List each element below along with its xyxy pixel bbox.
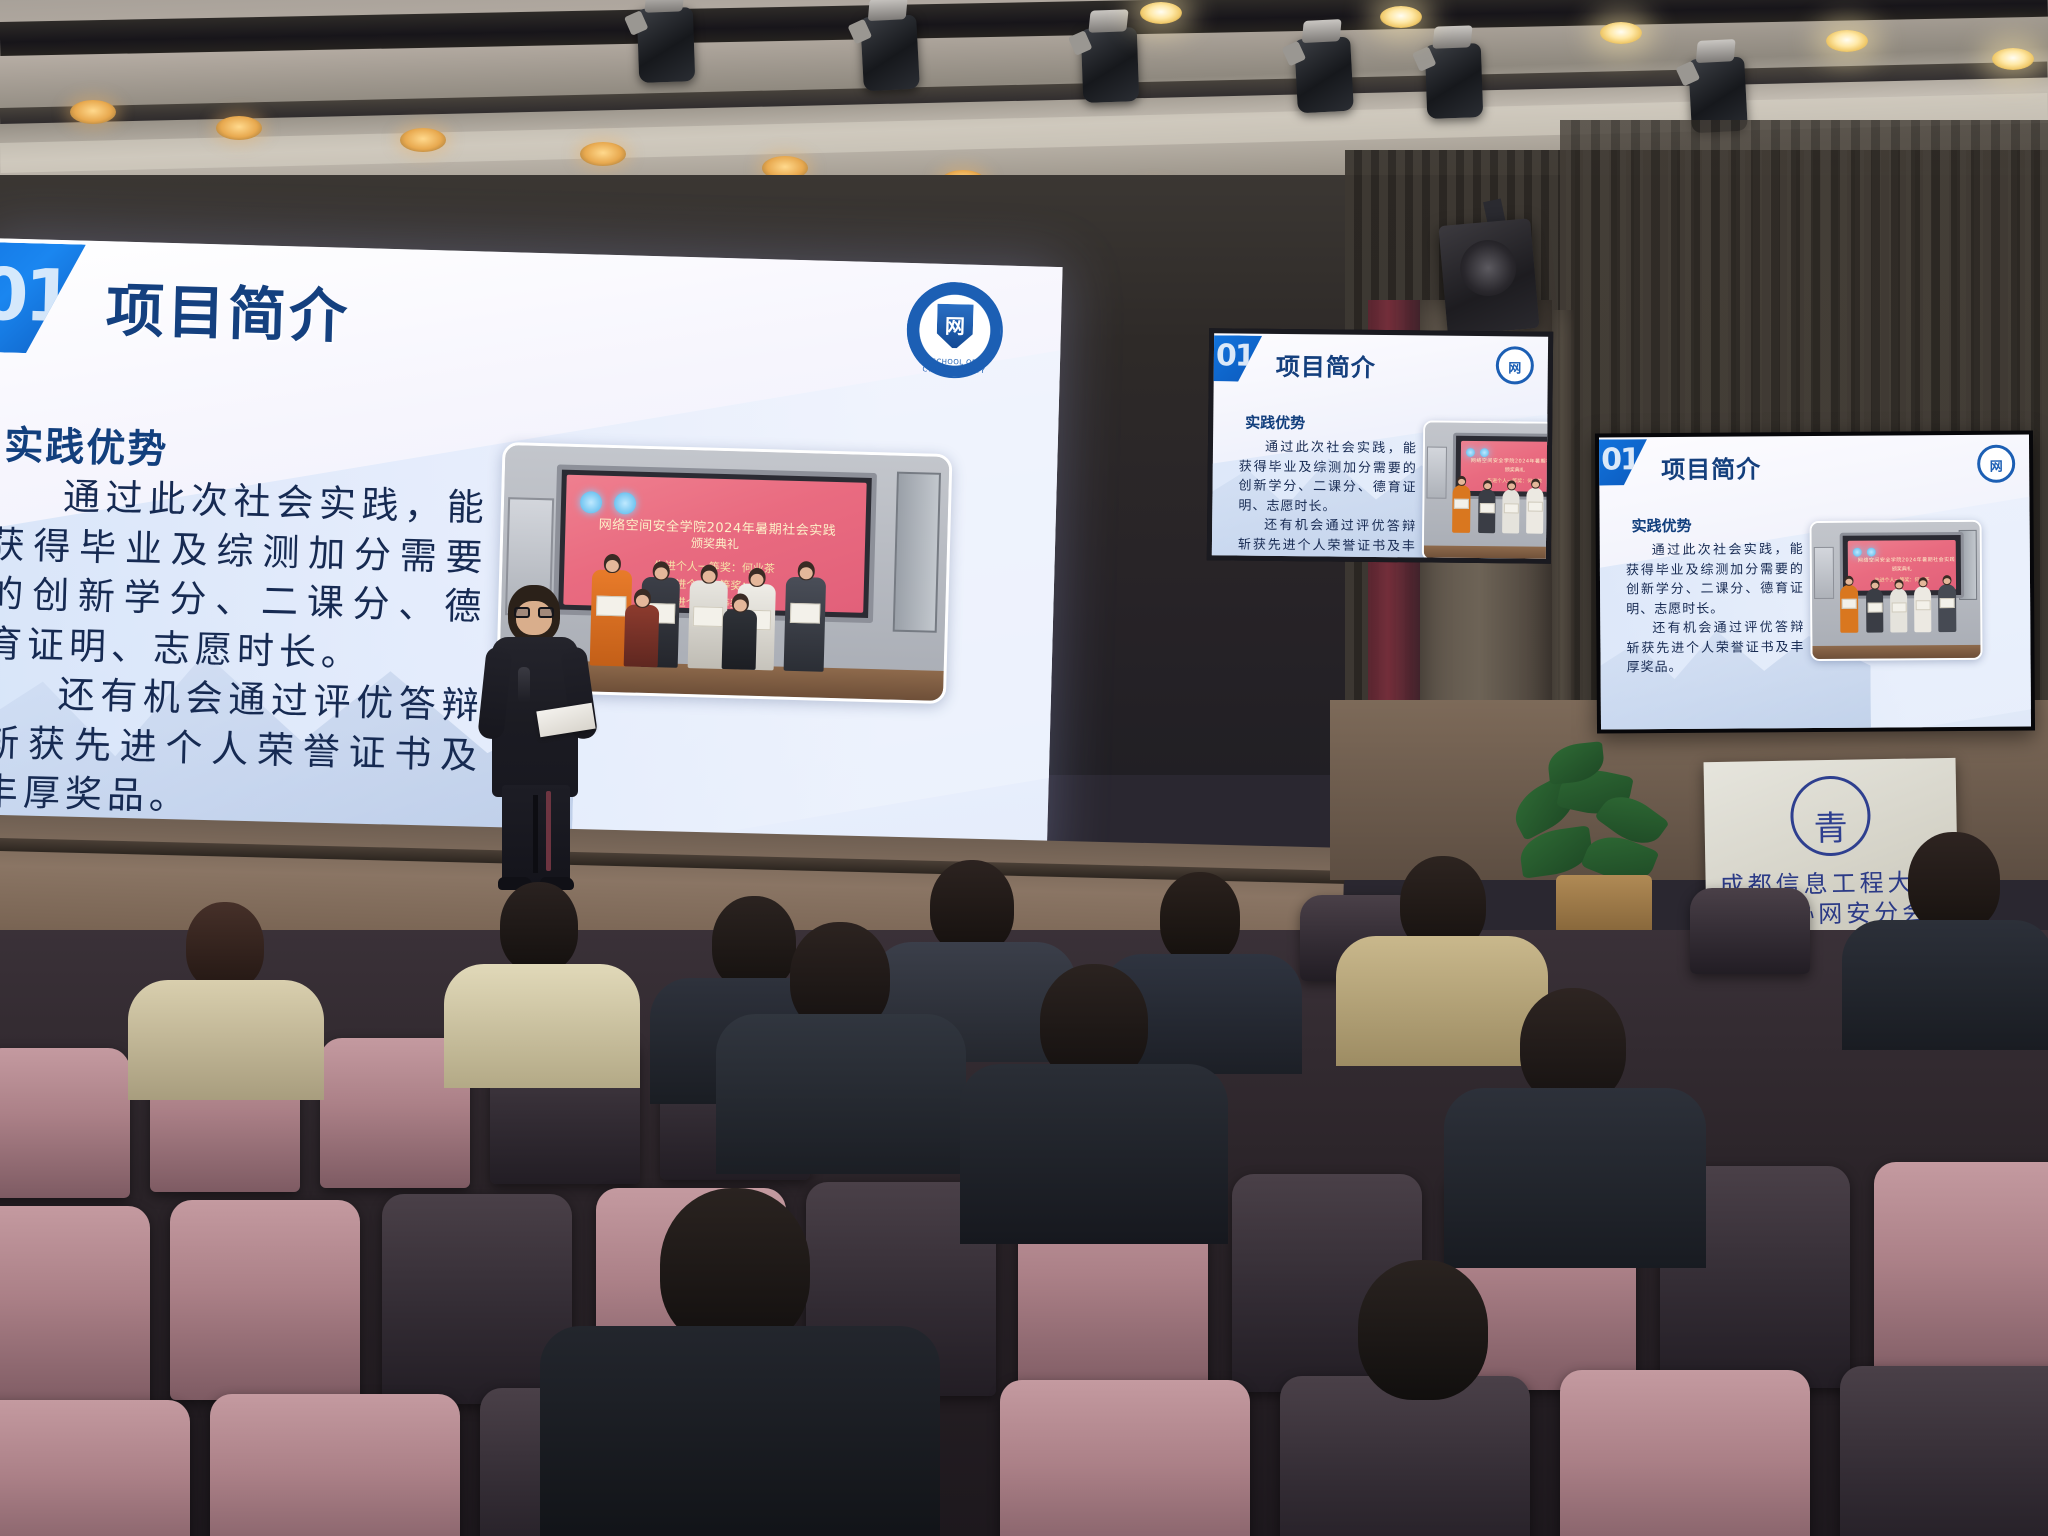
recessed-light-icon <box>400 128 446 152</box>
recessed-light-icon <box>70 100 116 124</box>
monitor-paragraph-2: 还有机会通过评优答辩斩获先进个人荣誉证书及丰厚奖品。 <box>1626 618 1804 678</box>
audience-head <box>186 902 264 990</box>
monitor-title: 项目简介 <box>1276 347 1376 383</box>
monitor-section-badge: 01 <box>1212 335 1262 382</box>
audience-shoulder <box>128 980 324 1100</box>
audience-shoulder <box>716 1014 966 1174</box>
person-head <box>652 561 670 580</box>
photo-award-recipient <box>1890 588 1907 632</box>
audience-shoulder <box>444 964 640 1088</box>
monitor-section-heading: 实践优势 <box>1245 412 1305 434</box>
audience-seat <box>0 1400 190 1536</box>
banner-line-1: 网络空间安全学院2024年暑期社会实践 <box>1858 556 1950 564</box>
slide-section-heading: 实践优势 <box>4 415 169 475</box>
slide-section-number: 01 <box>0 252 72 338</box>
trouser-stripe <box>546 791 551 871</box>
monitor-body-text: 通过此次社会实践，能获得毕业及综测加分需要的创新学分、二课分、德育证明、志愿时长… <box>1238 438 1417 559</box>
person-head <box>700 564 718 583</box>
ceiling-downlight-icon <box>1992 48 2034 70</box>
banner-logo-icon <box>580 491 603 514</box>
monitor-section-heading: 实践优势 <box>1632 515 1692 536</box>
wall-monitor-left-screen: 01 项目简介 实践优势 通过此次社会实践，能获得毕业及综测加分需要的创新学分、… <box>1212 333 1548 558</box>
monitor-paragraph-1: 通过此次社会实践，能获得毕业及综测加分需要的创新学分、二课分、德育证明、志愿时长… <box>1238 438 1417 518</box>
audience-seat <box>170 1200 360 1400</box>
person-head <box>634 589 652 608</box>
person-head <box>798 561 816 580</box>
presenter-head <box>508 585 560 643</box>
audience-shoulder <box>960 1064 1228 1244</box>
photo-door <box>893 472 941 633</box>
certificate-icon <box>693 606 724 627</box>
audience-shoulder <box>1336 936 1548 1066</box>
photo-award-recipient <box>722 609 758 670</box>
wall-pillar-secondary <box>1552 310 1574 760</box>
monitor-paragraph-2: 还有机会通过评优答辩斩获先进个人荣誉证书及丰厚奖品。 <box>1238 516 1417 559</box>
certificate-icon <box>790 603 821 624</box>
photo-award-recipient <box>1914 586 1931 632</box>
person-head <box>604 554 622 573</box>
flag-seal-icon <box>1790 775 1871 856</box>
wall-monitor-right-screen: 01 项目简介 实践优势 通过此次社会实践，能获得毕业及综测加分需要的创新学分、… <box>1599 435 2031 730</box>
audience-head <box>500 882 578 972</box>
monitor-school-logo <box>1496 346 1534 384</box>
monitor-embedded-photo: 网络空间安全学院2024年暑期社会实践 颁奖典礼 先进个人一等奖：何业茶 <box>1422 420 1548 558</box>
slide-body-text: 通过此次社会实践，能获得毕业及综测加分需要的创新学分、二课分、德育证明、志愿时长… <box>0 470 490 830</box>
photo-award-recipient <box>1478 489 1495 533</box>
photo-award-recipient <box>1502 489 1519 533</box>
photo-award-recipient <box>1866 589 1883 633</box>
monitor-paragraph-1: 通过此次社会实践，能获得毕业及综测加分需要的创新学分、二课分、德育证明、志愿时长… <box>1626 540 1805 619</box>
ceiling-downlight-icon <box>1140 2 1182 24</box>
photo-award-recipient <box>1452 485 1471 533</box>
audience-seat <box>1000 1380 1250 1536</box>
glasses-icon <box>514 607 554 618</box>
slide-paragraph-1: 通过此次社会实践，能获得毕业及综测加分需要的创新学分、二课分、德育证明、志愿时长… <box>0 470 490 682</box>
audience-head <box>1520 988 1626 1104</box>
monitor-section-number: 01 <box>1601 442 1639 477</box>
person-head <box>748 568 766 587</box>
school-logo: SCHOOL OF CYBERSECURITY <box>906 281 1005 380</box>
audience-head <box>930 860 1014 954</box>
certificate-icon <box>596 596 627 617</box>
audience-shoulder-foreground <box>540 1326 940 1536</box>
banner-line-2: 颁奖典礼 <box>1848 565 1956 573</box>
photo-award-recipient <box>1938 584 1956 632</box>
wall-monitor-right: 01 项目简介 实践优势 通过此次社会实践，能获得毕业及综测加分需要的创新学分、… <box>1595 430 2035 733</box>
photo-award-recipient <box>1840 585 1858 633</box>
banner-logo-icon <box>1867 548 1876 557</box>
photo-desk <box>1812 643 1982 659</box>
audience-shoulder <box>1842 920 2048 1050</box>
handheld-microphone-icon <box>518 667 530 703</box>
audience-area <box>0 930 2048 1536</box>
monitor-section-number: 01 <box>1216 338 1254 373</box>
audience-head <box>1160 872 1240 964</box>
monitor-section-badge: 01 <box>1599 439 1647 485</box>
ceiling-downlight-icon <box>1380 6 1422 28</box>
wall-monitor-left: 01 项目简介 实践优势 通过此次社会实践，能获得毕业及综测加分需要的创新学分、… <box>1207 328 1553 564</box>
person-head <box>732 593 750 612</box>
audience-head <box>660 1188 810 1348</box>
audience-seat <box>1280 1376 1530 1536</box>
audience-seat <box>1874 1162 2048 1386</box>
ceiling-downlight-icon <box>1600 22 1642 44</box>
audience-head <box>1908 832 2000 932</box>
slide-paragraph-2: 还有机会通过评优答辩斩获先进个人荣誉证书及丰厚奖品。 <box>0 668 484 830</box>
monitor-embedded-photo: 网络空间安全学院2024年暑期社会实践 颁奖典礼 先进个人一等奖：何业茶 <box>1810 520 1983 661</box>
banner-logo-icon <box>1480 448 1489 457</box>
logo-english-name: SCHOOL OF CYBERSECURITY <box>906 357 1002 376</box>
audience-seat <box>1690 888 1810 974</box>
photo-award-recipient <box>784 577 827 672</box>
monitor-school-logo <box>1977 445 2015 483</box>
photo-cabinet <box>1426 446 1447 498</box>
monitor-title: 项目简介 <box>1661 449 1761 485</box>
stage-spotlight-icon <box>1294 37 1354 114</box>
audience-seat <box>1840 1366 2048 1536</box>
audience-shoulder <box>1444 1088 1706 1268</box>
auditorium-scene: 01 项目简介 SCHOOL OF CYBERSECURITY 实践优势 通过此… <box>0 0 2048 1536</box>
stage-spotlight-icon <box>1081 27 1140 103</box>
audience-seat <box>210 1394 460 1536</box>
recessed-light-icon <box>580 142 626 166</box>
presenter-legs <box>502 785 570 885</box>
stage-spotlight-icon <box>637 7 696 83</box>
stage-spotlight-icon <box>860 15 920 92</box>
slide-section-badge: 01 <box>0 241 86 355</box>
banner-logo-icon <box>1853 548 1862 557</box>
photo-award-recipient <box>1526 488 1543 534</box>
slide-title: 项目简介 <box>105 263 351 354</box>
ceiling-downlight-icon <box>1826 30 1868 52</box>
banner-logo-icon <box>614 492 637 515</box>
monitor-body-text: 通过此次社会实践，能获得毕业及综测加分需要的创新学分、二课分、德育证明、志愿时长… <box>1626 540 1805 678</box>
banner-line-1: 网络空间安全学院2024年暑期社会实践 <box>1471 457 1548 465</box>
audience-seat <box>1560 1370 1810 1536</box>
banner-line-2: 颁奖典礼 <box>1461 466 1548 474</box>
pa-speaker-icon <box>1438 218 1539 336</box>
recessed-light-icon <box>216 116 262 140</box>
banner-logo-icon <box>1466 448 1475 457</box>
stage-spotlight-icon <box>1425 43 1484 119</box>
audience-seat <box>0 1206 150 1406</box>
audience-seat <box>0 1048 130 1198</box>
photo-award-recipient <box>624 604 660 667</box>
audience-head <box>712 896 796 990</box>
presenter <box>484 585 594 885</box>
photo-desk <box>1424 545 1548 558</box>
photo-cabinet <box>1814 547 1834 599</box>
audience-head <box>1358 1260 1488 1400</box>
